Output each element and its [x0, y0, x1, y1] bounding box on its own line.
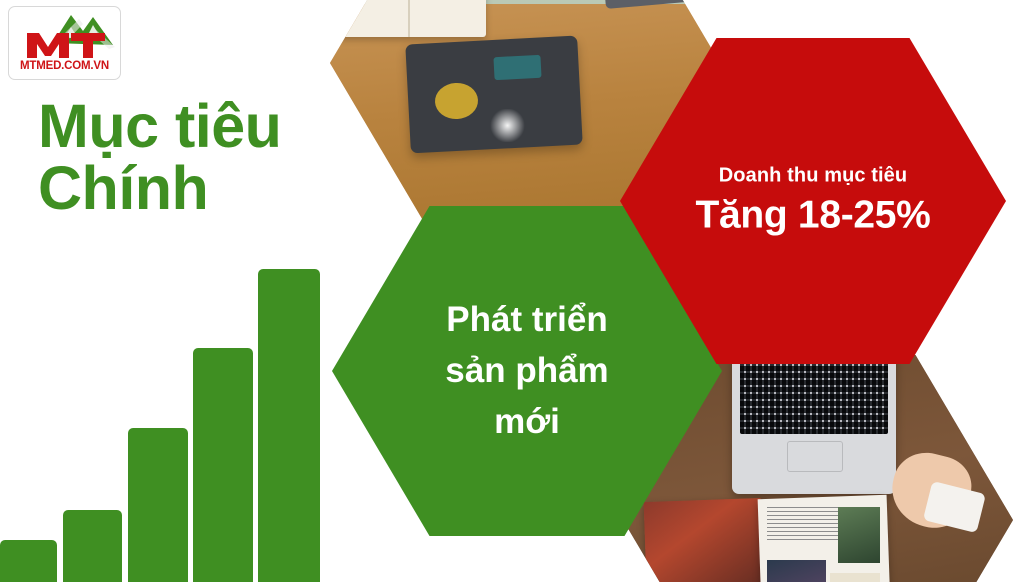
growth-bar-chart: [0, 255, 330, 582]
hexagon-green-line-3: mới: [379, 396, 675, 447]
bar-4: [193, 348, 253, 582]
page-title-line-2: Chính: [38, 157, 338, 219]
brand-logo[interactable]: MTMED.COM.VN: [8, 6, 121, 80]
revenue-target-value: Tăng 18-25%: [689, 194, 936, 238]
revenue-target-label: Doanh thu mục tiêu: [689, 165, 936, 188]
hexagon-green-text: Phát triển sản phẩm mới: [332, 295, 722, 447]
bar-3: [128, 428, 188, 582]
infographic-canvas: Phát triển sản phẩm mới Doanh thu mục ti…: [0, 0, 1035, 582]
bar-2: [63, 510, 122, 582]
hexagon-green-line-1: Phát triển: [379, 295, 675, 346]
page-title-line-1: Mục tiêu: [38, 92, 281, 160]
logo-tagline: MTMED.COM.VN: [9, 60, 120, 72]
bar-1: [0, 540, 57, 582]
bar-5: [258, 269, 320, 582]
hexagon-red-text: Doanh thu mục tiêu Tăng 18-25%: [620, 165, 1006, 238]
page-title: Mục tiêu Chính: [38, 95, 338, 219]
hexagon-green-line-2: sản phẩm: [379, 346, 675, 397]
